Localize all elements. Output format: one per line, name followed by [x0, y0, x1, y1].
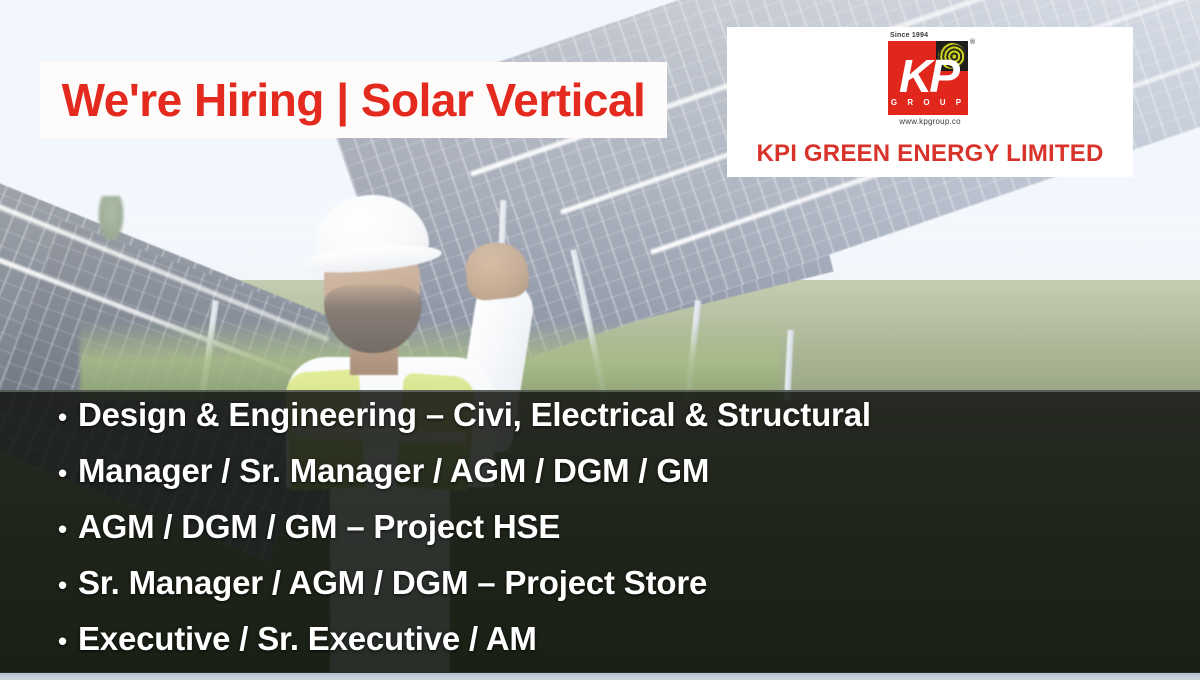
- job-title: Manager / Sr. Manager / AGM / DGM / GM: [78, 452, 709, 490]
- hiring-banner: We're Hiring | Solar Vertical Since 1994…: [0, 0, 1200, 680]
- job-title: Executive / Sr. Executive / AM: [78, 620, 537, 658]
- registered-trademark-icon: ®: [970, 39, 975, 46]
- headline-box: We're Hiring | Solar Vertical: [40, 62, 667, 138]
- logo-website-text: www.kpgroup.co: [884, 117, 976, 126]
- logo-group-text: G R O U P: [888, 98, 968, 107]
- company-name: KPI GREEN ENERGY LIMITED: [756, 140, 1103, 168]
- job-list-item: • Sr. Manager / AGM / DGM – Project Stor…: [58, 564, 1158, 620]
- job-title: Design & Engineering – Civi, Electrical …: [78, 396, 871, 434]
- bullet-icon: •: [58, 628, 78, 654]
- overlay-top-divider: [0, 390, 1200, 392]
- bullet-icon: •: [58, 404, 78, 430]
- tree: [98, 196, 124, 242]
- kp-group-logo-icon: Since 1994 ® KP G R O U P www.kpgroup.co: [884, 32, 976, 132]
- job-title: AGM / DGM / GM – Project HSE: [78, 508, 560, 546]
- bullet-icon: •: [58, 572, 78, 598]
- logo-since-text: Since 1994: [890, 32, 928, 39]
- page-title: We're Hiring | Solar Vertical: [62, 77, 646, 123]
- job-title: Sr. Manager / AGM / DGM – Project Store: [78, 564, 707, 602]
- job-list-item: • Design & Engineering – Civi, Electrica…: [58, 396, 1158, 452]
- bullet-icon: •: [58, 460, 78, 486]
- company-logo-box: Since 1994 ® KP G R O U P www.kpgroup.co…: [727, 27, 1133, 177]
- job-list-item: • Executive / Sr. Executive / AM: [58, 620, 1158, 676]
- job-list-item: • Manager / Sr. Manager / AGM / DGM / GM: [58, 452, 1158, 508]
- bullet-icon: •: [58, 516, 78, 542]
- job-list-item: • AGM / DGM / GM – Project HSE: [58, 508, 1158, 564]
- worker-fist: [463, 240, 531, 302]
- job-openings-list: • Design & Engineering – Civi, Electrica…: [58, 396, 1158, 676]
- worker-beard: [324, 285, 422, 353]
